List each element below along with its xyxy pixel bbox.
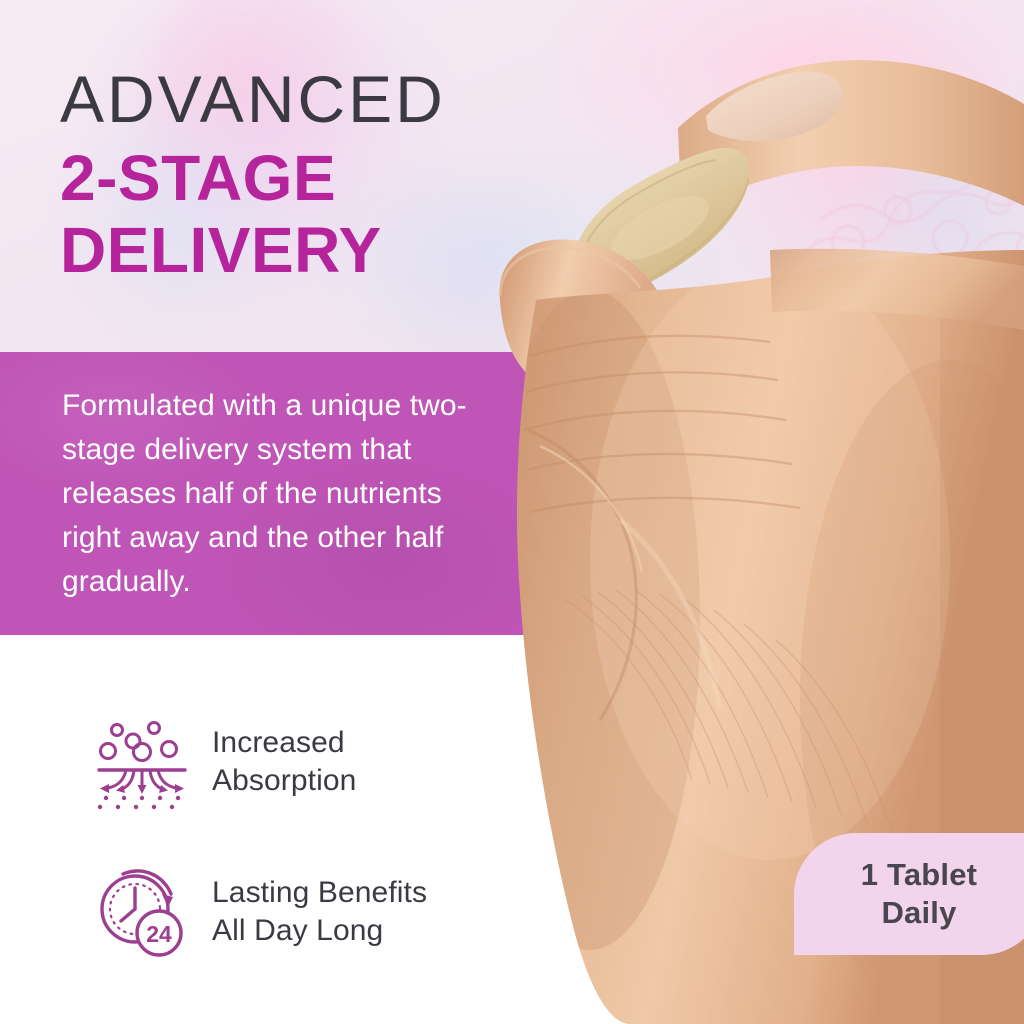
dose-badge: 1 Tablet Daily (794, 833, 1024, 955)
molecular-lace-texture (760, 0, 1024, 390)
benefit-label-absorption: Increased Absorption (212, 724, 356, 801)
absorption-icon (96, 714, 188, 810)
benefit-row-absorption: Increased Absorption (96, 714, 427, 810)
body-copy-text: Formulated with a unique two-stage deliv… (62, 384, 482, 604)
dose-badge-line1: 1 Tablet (861, 856, 977, 894)
clock-24-icon: 24 (96, 864, 188, 960)
benefit-row-lasting: 24 Lasting Benefits All Day Long (96, 864, 427, 960)
headline-line-two-stage: 2-STAGE (60, 143, 580, 215)
svg-text:24: 24 (146, 921, 172, 947)
benefits-list: Increased Absorption (96, 714, 427, 960)
benefit-label-lasting: Lasting Benefits All Day Long (212, 874, 427, 951)
headline-line-advanced: ADVANCED (60, 66, 580, 133)
headline-line-delivery: DELIVERY (60, 215, 580, 287)
dose-badge-line2: Daily (881, 894, 956, 932)
headline-block: ADVANCED 2-STAGE DELIVERY (60, 66, 580, 287)
product-feature-graphic: ADVANCED 2-STAGE DELIVERY Formulated wit… (0, 0, 1024, 1024)
